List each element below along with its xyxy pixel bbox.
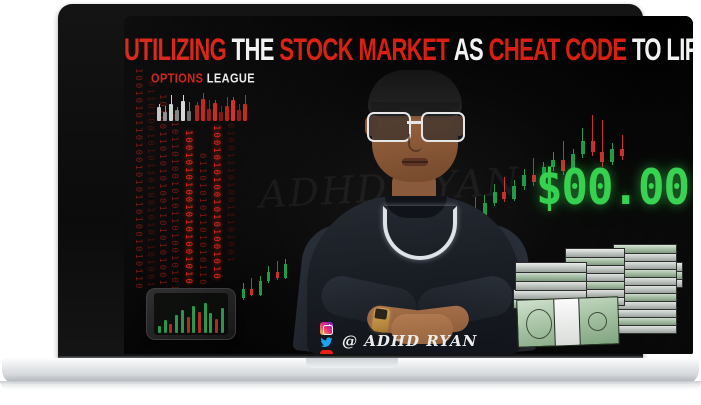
matrix-rain-column: 100101011010010101101001010110 <box>132 68 143 248</box>
logo-candle-wick <box>215 100 216 105</box>
headline-part-2: THE <box>232 31 274 67</box>
logo-candle <box>201 99 205 121</box>
candlestick <box>620 149 624 157</box>
phone-chart-bar <box>158 326 161 333</box>
instagram-icon[interactable] <box>320 322 333 335</box>
candlestick <box>267 272 270 281</box>
logo-candle <box>231 100 235 121</box>
logo-candle <box>243 104 247 121</box>
matrix-rain-column: 101001101010100110101010011010 <box>156 94 167 312</box>
logo-candle <box>225 106 229 121</box>
phone-chart-bar <box>169 324 172 333</box>
logo-candle-wick <box>227 97 228 108</box>
candlestick-wick <box>260 276 261 296</box>
glasses-bridge <box>407 121 423 124</box>
logo-candle <box>157 107 161 121</box>
logo-candle <box>237 110 241 121</box>
logo-word-one: OPTIONS <box>151 72 203 86</box>
banknote-band <box>553 299 581 346</box>
logo-candle-wick <box>209 100 210 111</box>
logo-candle <box>195 105 199 121</box>
lens-left <box>367 112 411 142</box>
logo-candle <box>181 101 185 121</box>
logo-candle-wick <box>159 104 160 109</box>
logo-candle <box>163 112 167 121</box>
person-illustration <box>299 46 529 354</box>
candlestick <box>284 264 287 277</box>
candlestick-wick <box>592 115 593 156</box>
slide-screen: 1001010110100101011010010101100110100101… <box>124 16 693 354</box>
logo-candle-wick <box>177 107 178 112</box>
nose <box>408 134 422 152</box>
social-handle: @ ADHD RYAN <box>342 332 477 350</box>
money-stacks <box>509 244 684 349</box>
phone-chart-bar <box>175 315 178 333</box>
candlestick-wick <box>277 261 278 281</box>
logo-candle <box>169 104 173 121</box>
phone-chart-bar <box>164 320 167 333</box>
phone-chart-bar <box>221 308 224 333</box>
logo-candle-wick <box>197 102 198 107</box>
candlestick-wick <box>285 259 286 280</box>
price-display: $00.00 <box>519 159 689 217</box>
brand-logo: OPTIONS LEAGUE <box>151 72 255 86</box>
phone-chart-bar <box>209 313 212 333</box>
logo-candle <box>175 110 179 121</box>
logo-candle-wick <box>189 102 190 113</box>
logo-candle-wick <box>245 95 246 106</box>
youtube-icon[interactable] <box>320 350 333 354</box>
logo-candle-wick <box>239 104 240 112</box>
social-row: @ ADHD RYAN <box>320 322 500 354</box>
candlestick <box>259 281 262 294</box>
laptop-base-foot <box>0 381 701 390</box>
phone-chart-bar <box>192 306 195 333</box>
candlestick <box>276 272 279 278</box>
candlestick <box>242 289 245 298</box>
candlestick-wick <box>243 283 244 300</box>
money-bundle <box>565 248 625 258</box>
instagram-icon-inner <box>323 325 333 335</box>
logo-word-two: LEAGUE <box>207 72 255 86</box>
laptop-lid: 1001010110100101011010010101100110100101… <box>58 4 643 362</box>
mouth-line <box>402 161 428 163</box>
candlestick-wick <box>622 135 623 159</box>
laptop-mockup: 1001010110100101011010010101100110100101… <box>0 0 701 405</box>
smartphone <box>146 288 236 340</box>
phone-chart-bar <box>204 303 207 333</box>
logo-candle <box>187 111 191 121</box>
headline-part-1: UTILIZING <box>124 31 226 67</box>
lens-right <box>421 112 465 142</box>
candlestick-wick <box>268 266 269 283</box>
phone-trading-chart <box>154 293 228 335</box>
candlestick <box>250 289 253 295</box>
laptop-bezel: 1001010110100101011010010101100110100101… <box>124 16 693 354</box>
logo-candle-wick <box>233 97 234 102</box>
logo-candle-wick <box>171 95 172 106</box>
banknote-seal <box>588 312 608 332</box>
logo-candle-wick <box>165 106 166 114</box>
headline-part-6: TO LIFE <box>632 31 693 67</box>
instagram-icon-dot <box>329 324 331 326</box>
phone-chart-bar <box>215 319 218 333</box>
phone-chart-bar <box>187 317 190 333</box>
logo-candle <box>219 112 223 121</box>
watch-face <box>374 308 387 320</box>
logo-candle-wick <box>203 93 204 101</box>
candlestick <box>591 141 595 152</box>
candlestick-wick <box>582 128 583 158</box>
logo-candle-wick <box>221 106 222 114</box>
phone-chart-bar <box>198 312 201 333</box>
twitter-icon[interactable] <box>320 336 333 349</box>
laptop-trackpad-notch <box>306 358 398 368</box>
candlestick-wick <box>251 278 252 297</box>
money-bundle <box>515 262 587 273</box>
logo-candle-wick <box>183 95 184 103</box>
banknote-portrait-oval <box>526 309 553 340</box>
candlestick <box>581 141 585 154</box>
logo-candle <box>207 109 211 121</box>
logo-candle <box>213 103 217 121</box>
front-banknote <box>516 296 620 348</box>
logo-candles-decoration <box>151 87 281 121</box>
social-icons <box>320 322 336 354</box>
phone-chart-bar <box>181 310 184 333</box>
